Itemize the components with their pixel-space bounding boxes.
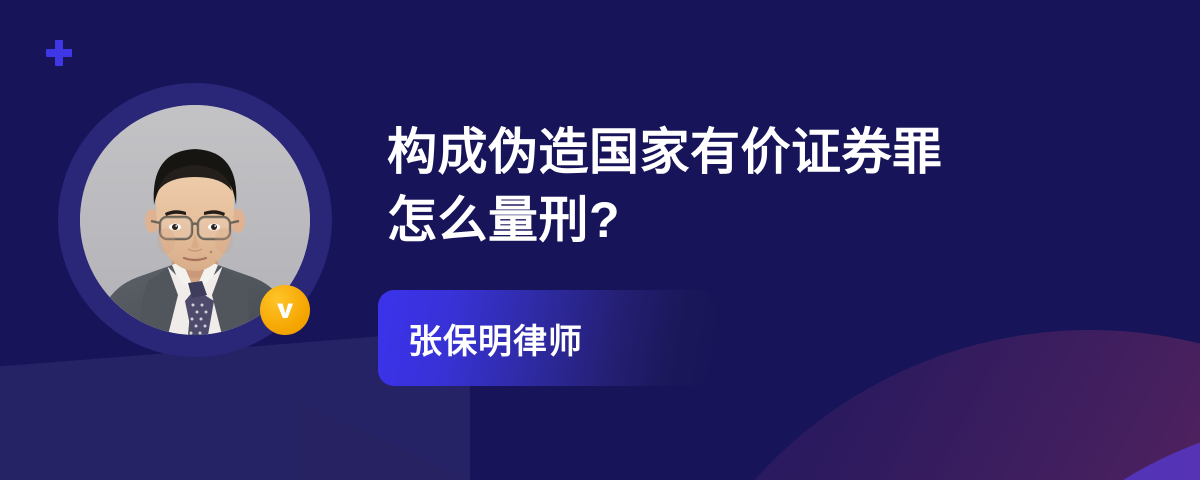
author-badge[interactable]: 张保明律师 — [378, 290, 714, 386]
crimson-arc-shape — [640, 330, 1200, 480]
answer-card: 构成伪造国家有价证券罪 怎么量刑? 张保明律师 — [0, 0, 1200, 480]
verified-check-icon — [260, 285, 310, 335]
question-block: 构成伪造国家有价证券罪 怎么量刑? — [387, 118, 1087, 254]
avatar[interactable] — [58, 83, 332, 357]
plus-icon — [46, 40, 72, 66]
page-title: 构成伪造国家有价证券罪 怎么量刑? — [387, 118, 1087, 254]
author-name: 张保明律师 — [378, 314, 583, 363]
